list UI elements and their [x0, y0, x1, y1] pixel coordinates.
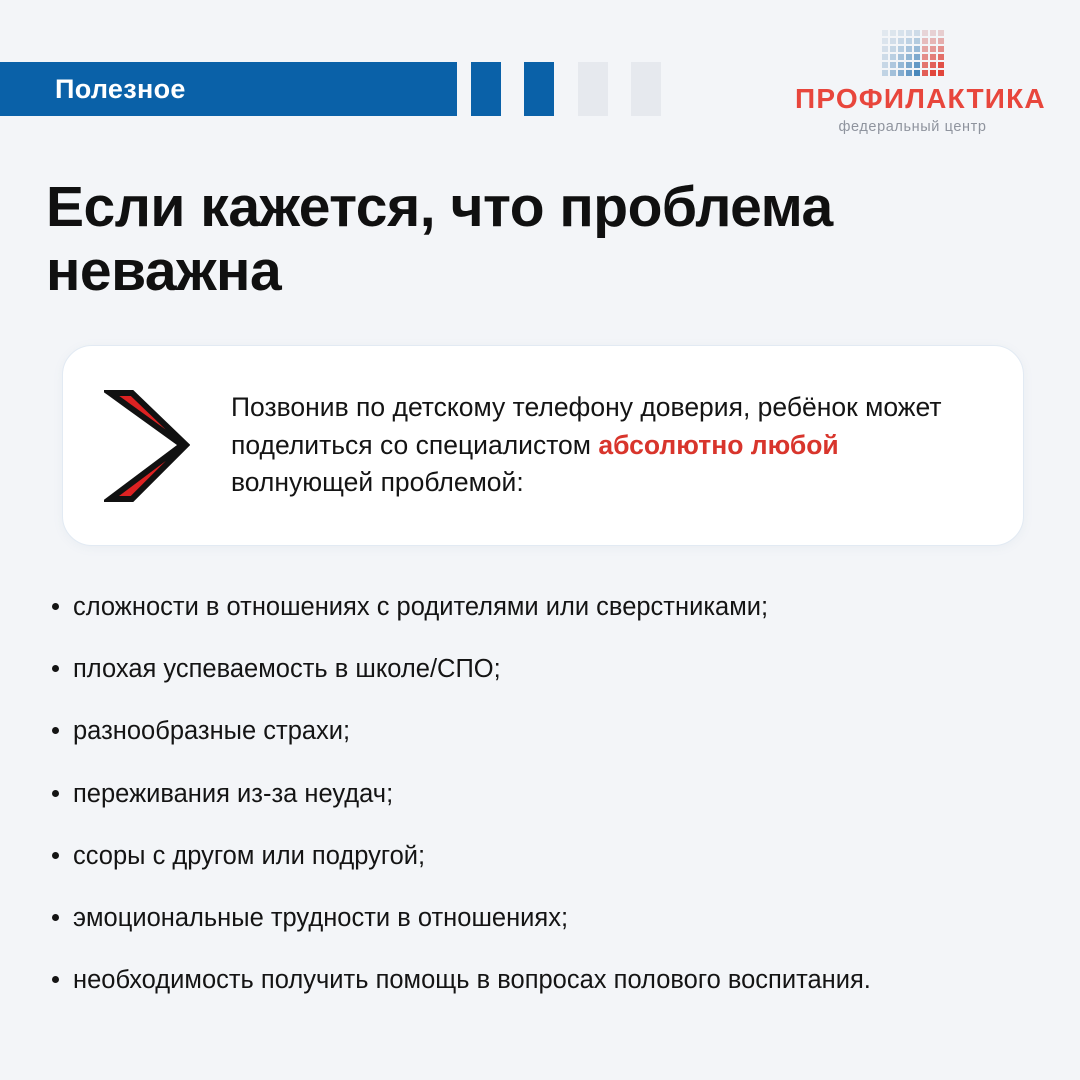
pixel-grid-cell	[914, 38, 920, 44]
pixel-grid-cell	[882, 46, 888, 52]
pixel-grid-cell	[890, 70, 896, 76]
pixel-grid-cell	[938, 30, 944, 36]
pixel-grid-cell	[930, 30, 936, 36]
pixel-grid-cell	[890, 54, 896, 60]
list-item: ссоры с другом или подругой;	[46, 839, 1036, 874]
bullet-dot-icon	[52, 603, 59, 610]
pixel-grid-cell	[906, 46, 912, 52]
list-item-label: необходимость получить помощь в вопросах…	[73, 966, 871, 994]
pixel-grid-cell	[922, 46, 928, 52]
pixel-grid-cell	[938, 46, 944, 52]
decorative-dash-2	[524, 62, 554, 116]
pixel-grid-cell	[882, 54, 888, 60]
pixel-grid-cell	[922, 38, 928, 44]
pixel-grid-cell	[882, 30, 888, 36]
pixel-grid-cell	[890, 46, 896, 52]
bullet-dot-icon	[52, 665, 59, 672]
callout-text: Позвонив по детскому телефону доверия, р…	[231, 389, 1023, 502]
pixel-grid-cell	[906, 54, 912, 60]
bullet-dot-icon	[52, 976, 59, 983]
pixel-grid-cell	[930, 46, 936, 52]
bullet-dot-icon	[52, 727, 59, 734]
decorative-dash-3	[578, 62, 608, 116]
pixel-grid-cell	[914, 30, 920, 36]
decorative-dash-1	[471, 62, 501, 116]
pixel-grid-cell	[930, 54, 936, 60]
pixel-grid-cell	[890, 30, 896, 36]
decorative-dash-4	[631, 62, 661, 116]
category-ribbon-label: Полезное	[0, 74, 186, 105]
pixel-grid-cell	[922, 54, 928, 60]
pixel-grid-cell	[898, 38, 904, 44]
bullet-dot-icon	[52, 852, 59, 859]
pixel-grid-cell	[890, 62, 896, 68]
pixel-grid-cell	[898, 30, 904, 36]
pixel-grid-cell	[906, 38, 912, 44]
pixel-grid-cell	[906, 62, 912, 68]
pixel-grid-cell	[898, 62, 904, 68]
bullet-dot-icon	[52, 914, 59, 921]
pixel-grid-cell	[922, 62, 928, 68]
page-title: Если кажется, что проблема неважна	[46, 176, 986, 304]
category-ribbon: Полезное	[0, 62, 457, 116]
pixel-grid-cell	[938, 38, 944, 44]
pixel-grid-cell	[914, 46, 920, 52]
pixel-grid-cell	[898, 54, 904, 60]
pixel-grid-cell	[898, 70, 904, 76]
brand-logo-subtitle: федеральный центр	[795, 119, 1030, 135]
callout-card: Позвонив по детскому телефону доверия, р…	[62, 345, 1024, 546]
pixel-grid-cell	[914, 70, 920, 76]
pixel-grid-cell	[922, 30, 928, 36]
callout-text-accent: абсолютно любой	[598, 430, 838, 460]
pixel-grid-cell	[930, 70, 936, 76]
list-item-label: эмоциональные трудности в отношениях;	[73, 904, 568, 932]
brand-logo: ПРОФИЛАКТИКА федеральный центр	[795, 30, 1030, 135]
list-item-label: сложности в отношениях с родителями или …	[73, 593, 768, 621]
pixel-grid-cell	[930, 38, 936, 44]
list-item-label: разнообразные страхи;	[73, 717, 350, 745]
pixel-grid-cell	[882, 70, 888, 76]
pixel-grid-cell	[914, 54, 920, 60]
bullet-dot-icon	[52, 790, 59, 797]
problem-list: сложности в отношениях с родителями или …	[46, 590, 1036, 1025]
list-item: разнообразные страхи;	[46, 714, 1036, 749]
page-header: Полезное ПРОФИЛАКТИКА федеральный центр	[0, 0, 1080, 160]
chevron-right-icon	[63, 387, 231, 505]
pixel-grid-cell	[938, 54, 944, 60]
list-item: переживания из-за неудач;	[46, 777, 1036, 812]
pixel-grid-cell	[922, 70, 928, 76]
list-item: эмоциональные трудности в отношениях;	[46, 901, 1036, 936]
pixel-grid-cell	[890, 38, 896, 44]
list-item: сложности в отношениях с родителями или …	[46, 590, 1036, 625]
pixel-grid-cell	[938, 70, 944, 76]
list-item-label: переживания из-за неудач;	[73, 780, 393, 808]
pixel-grid-cell	[906, 30, 912, 36]
list-item: необходимость получить помощь в вопросах…	[46, 963, 1036, 998]
pixel-grid-cell	[882, 38, 888, 44]
pixel-grid-icon	[882, 30, 944, 76]
list-item: плохая успеваемость в школе/СПО;	[46, 652, 1036, 687]
list-item-label: плохая успеваемость в школе/СПО;	[73, 655, 501, 683]
pixel-grid-cell	[938, 62, 944, 68]
list-item-label: ссоры с другом или подругой;	[73, 842, 425, 870]
pixel-grid-cell	[914, 62, 920, 68]
brand-logo-title: ПРОФИЛАКТИКА	[795, 85, 1030, 113]
pixel-grid-cell	[930, 62, 936, 68]
pixel-grid-cell	[898, 46, 904, 52]
callout-text-tail: волнующей проблемой:	[231, 467, 524, 497]
pixel-grid-cell	[906, 70, 912, 76]
pixel-grid-cell	[882, 62, 888, 68]
